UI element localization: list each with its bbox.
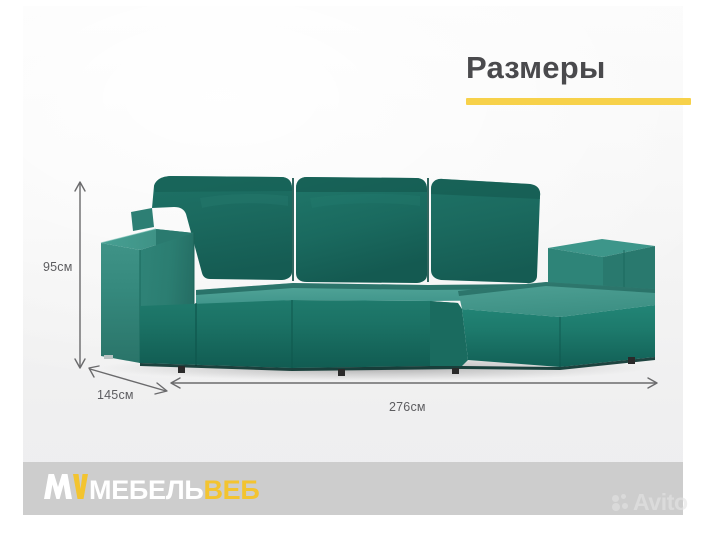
product-dimensions-image: Размеры	[0, 0, 720, 540]
dimension-label-width: 276см	[389, 400, 426, 414]
title-underline	[466, 98, 691, 105]
avito-dots-icon	[612, 494, 630, 512]
logo-mark-m	[44, 474, 72, 507]
avito-wordmark: Avito	[633, 491, 688, 514]
logo-word-accent: ВЕБ	[203, 474, 259, 506]
logo-mark-v	[73, 474, 88, 507]
dimension-label-depth: 145см	[97, 388, 134, 402]
dimension-label-height: 95см	[43, 260, 73, 274]
brand-logo: МЕБЕЛЬ ВЕБ	[44, 474, 259, 506]
logo-word-primary: МЕБЕЛЬ	[89, 474, 203, 506]
page-title: Размеры	[466, 48, 692, 88]
avito-watermark: Avito	[612, 491, 688, 514]
